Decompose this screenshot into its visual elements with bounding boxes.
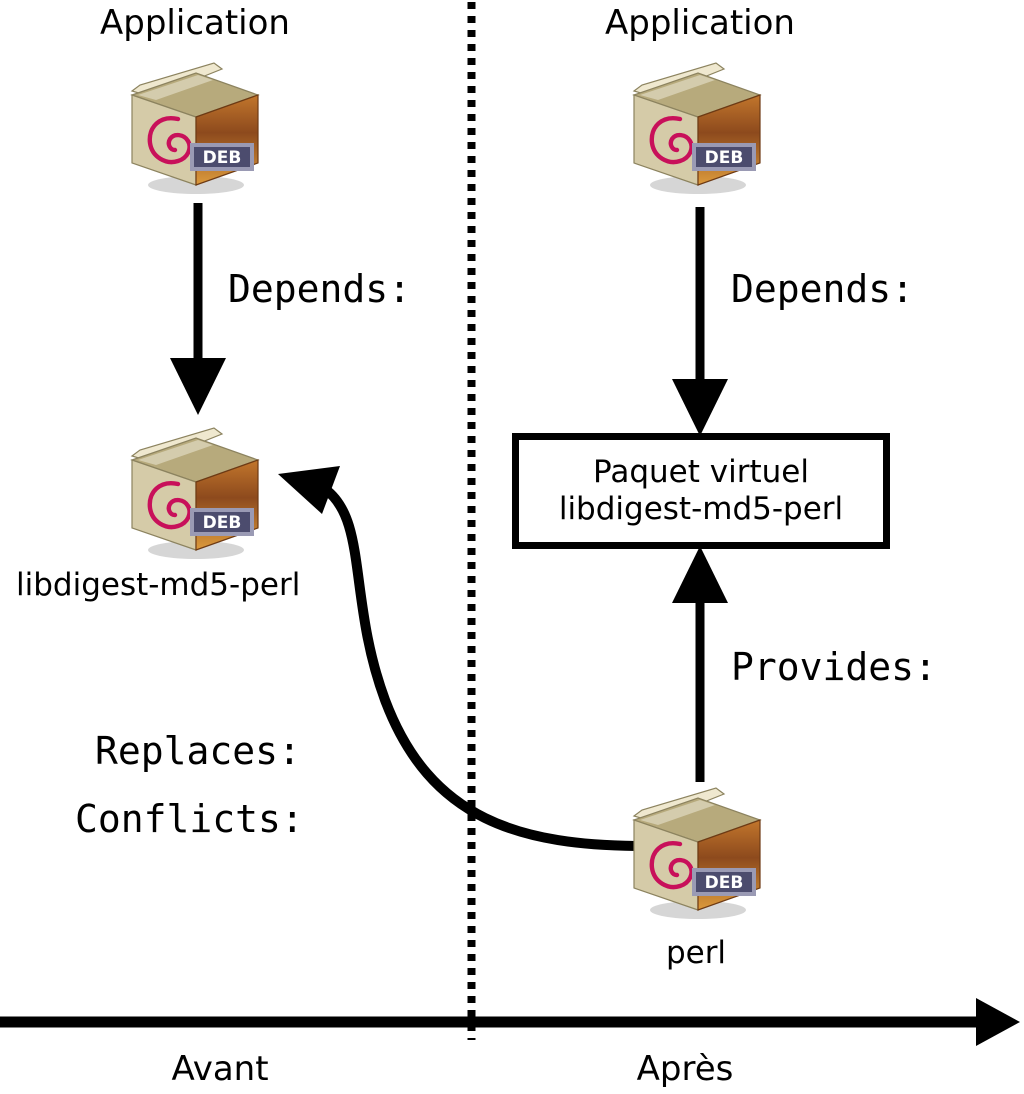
deb-badge-label: DEB bbox=[203, 148, 242, 168]
virtual-package-line2: libdigest-md5-perl bbox=[559, 491, 843, 528]
arrow-timeline bbox=[0, 998, 1020, 1046]
deb-badge: DEB bbox=[190, 143, 254, 171]
arrow-depends-right bbox=[672, 207, 728, 436]
perl-package-icon: DEB bbox=[620, 780, 772, 922]
deb-badge: DEB bbox=[692, 143, 756, 171]
debian-package-icon: DEB bbox=[620, 55, 772, 197]
phase-label-after: Après bbox=[585, 1052, 785, 1086]
right-application-icon: DEB bbox=[620, 55, 772, 197]
debian-package-icon: DEB bbox=[118, 55, 270, 197]
replaces-label: Replaces: bbox=[95, 732, 301, 770]
diagram-canvas: Application bbox=[0, 0, 1024, 1094]
arrow-depends-left bbox=[170, 203, 226, 415]
conflicts-label: Conflicts: bbox=[75, 800, 304, 838]
debian-package-icon: DEB bbox=[620, 780, 772, 922]
deb-badge-label: DEB bbox=[705, 873, 744, 893]
deb-badge-label: DEB bbox=[705, 148, 744, 168]
left-depends-label: Depends: bbox=[228, 270, 411, 308]
deb-badge: DEB bbox=[692, 868, 756, 896]
right-depends-label: Depends: bbox=[731, 270, 914, 308]
left-package-icon: DEB bbox=[118, 420, 270, 562]
left-application-label: Application bbox=[0, 6, 390, 40]
arrow-provides bbox=[672, 546, 728, 782]
deb-badge: DEB bbox=[190, 508, 254, 536]
left-package-label: libdigest-md5-perl bbox=[16, 570, 300, 601]
virtual-package-line1: Paquet virtuel bbox=[593, 454, 809, 491]
right-application-label: Application bbox=[500, 6, 900, 40]
deb-badge-label: DEB bbox=[203, 513, 242, 533]
left-application-icon: DEB bbox=[118, 55, 270, 197]
phase-label-before: Avant bbox=[120, 1052, 320, 1086]
provides-label: Provides: bbox=[731, 648, 937, 686]
virtual-package-box: Paquet virtuel libdigest-md5-perl bbox=[512, 433, 890, 549]
perl-package-label: perl bbox=[596, 938, 796, 969]
debian-package-icon: DEB bbox=[118, 420, 270, 562]
